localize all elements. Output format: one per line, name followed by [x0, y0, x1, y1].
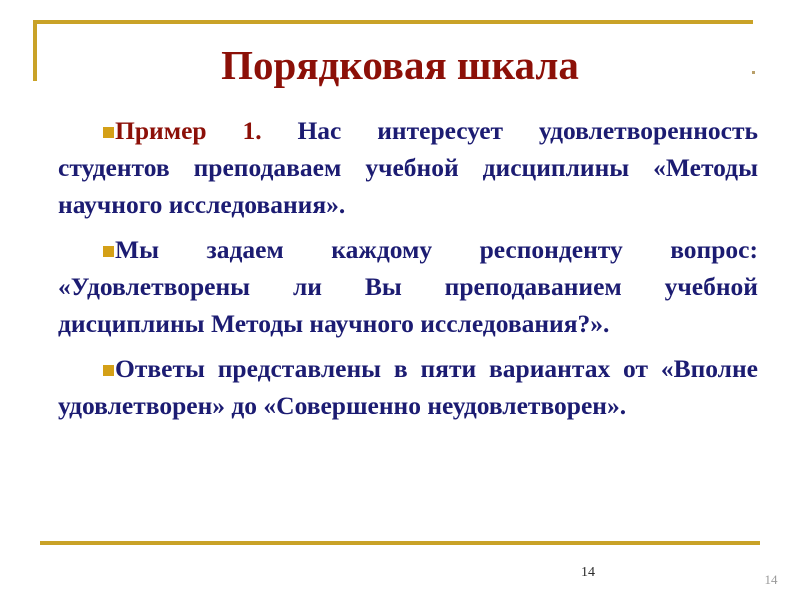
bullet-paragraph-1: Пример 1. Нас интересует удовлетвореннос… — [58, 112, 758, 223]
bullet-paragraph-2: Мы задаем каждому респонденту вопрос: «У… — [58, 231, 758, 342]
decorative-bottom-rule — [40, 541, 760, 545]
decorative-left-rule — [33, 20, 37, 81]
gold-square-bullet-icon — [103, 246, 114, 257]
decorative-top-rule — [33, 20, 753, 24]
corner-page-number: 14 — [760, 572, 782, 587]
bullet-2-body-text: Мы задаем каждому респонденту вопрос: «У… — [58, 235, 758, 338]
gold-square-bullet-icon — [103, 127, 114, 138]
slide-title: Порядковая шкала — [40, 40, 760, 90]
bullet-1-lead-text: Пример 1. — [115, 116, 262, 145]
bullet-3-body-text: Ответы представлены в пяти вариантах от … — [58, 354, 758, 420]
bullet-paragraph-3: Ответы представлены в пяти вариантах от … — [58, 350, 758, 424]
page-number: 14 — [576, 565, 600, 581]
slide-canvas: Порядковая шкала Пример 1. Нас интересуе… — [0, 0, 800, 600]
gold-square-bullet-icon — [103, 365, 114, 376]
slide-body: Пример 1. Нас интересует удовлетвореннос… — [58, 112, 758, 424]
